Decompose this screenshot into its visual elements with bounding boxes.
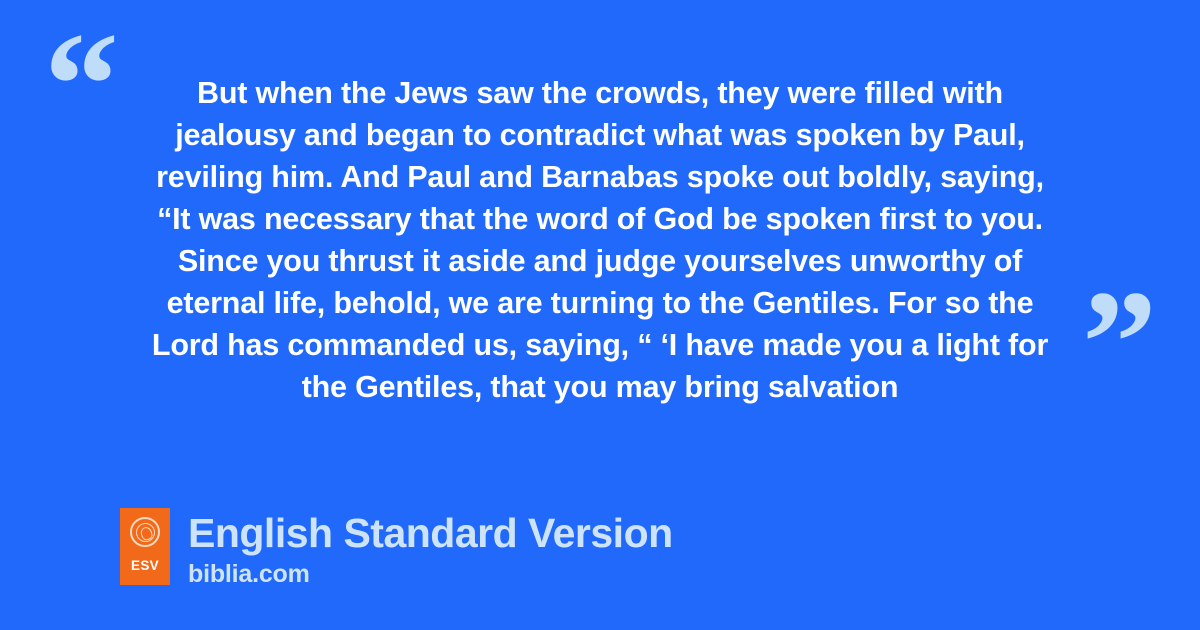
quote-line: reviling him. And Paul and Barnabas spok…	[110, 156, 1090, 198]
attribution: ESV English Standard Version biblia.com	[120, 508, 673, 588]
esv-logo-label: ESV	[131, 559, 159, 573]
quote-line: eternal life, behold, we are turning to …	[110, 282, 1090, 324]
quote-line: Since you thrust it aside and judge your…	[110, 240, 1090, 282]
quote-text-block: But when the Jews saw the crowds, they w…	[110, 72, 1090, 408]
quote-line: jealousy and began to contradict what wa…	[110, 114, 1090, 156]
esv-seal-emblem-icon	[130, 517, 160, 547]
quote-line: Lord has commanded us, saying, “ ‘I have…	[110, 324, 1090, 366]
esv-logo-icon: ESV	[120, 508, 170, 585]
site-url: biblia.com	[188, 560, 673, 588]
esv-seal-inner-icon	[136, 523, 155, 542]
opening-quote-icon: “	[44, 10, 117, 160]
quote-line: But when the Jews saw the crowds, they w…	[110, 72, 1090, 114]
quote-card: “ But when the Jews saw the crowds, they…	[0, 0, 1200, 630]
bible-version-name: English Standard Version	[188, 510, 673, 556]
closing-quote-icon: ”	[1082, 268, 1155, 418]
attribution-text-group: English Standard Version biblia.com	[188, 508, 673, 588]
quote-line: the Gentiles, that you may bring salvati…	[110, 366, 1090, 408]
quote-line: “It was necessary that the word of God b…	[110, 198, 1090, 240]
